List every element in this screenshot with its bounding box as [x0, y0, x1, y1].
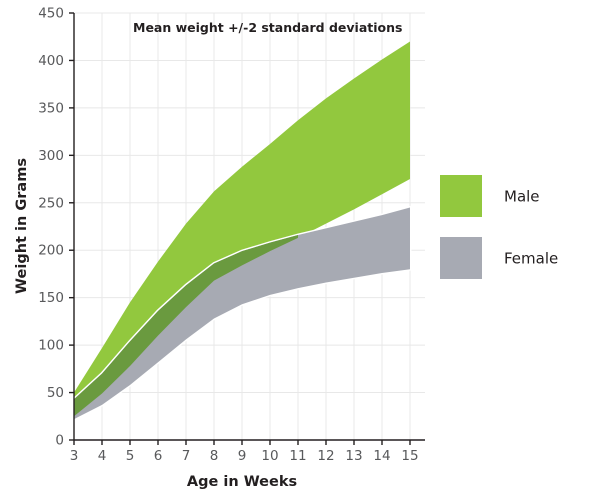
- chart-container: 0501001502002503003504004503456789101112…: [0, 0, 605, 500]
- y-tick-label: 250: [38, 195, 64, 211]
- x-tick-label: 5: [126, 448, 135, 464]
- y-tick-label: 100: [38, 338, 64, 354]
- x-tick-label: 8: [210, 448, 219, 464]
- x-tick-label: 15: [401, 448, 418, 464]
- chart-title: Mean weight +/-2 standard deviations: [133, 20, 402, 35]
- x-tick-label: 11: [289, 448, 306, 464]
- x-tick-label: 13: [345, 448, 362, 464]
- y-tick-label: 200: [38, 243, 64, 259]
- legend-swatch-male[interactable]: [440, 175, 482, 217]
- x-axis-title: Age in Weeks: [187, 474, 297, 490]
- x-tick-label: 7: [182, 448, 191, 464]
- y-tick-label: 350: [38, 100, 64, 116]
- x-tick-label: 4: [98, 448, 107, 464]
- x-tick-label: 6: [154, 448, 163, 464]
- y-tick-label: 450: [38, 6, 64, 22]
- x-tick-label: 12: [317, 448, 334, 464]
- weight-growth-area-chart: 0501001502002503003504004503456789101112…: [0, 0, 605, 500]
- y-tick-label: 400: [38, 53, 64, 69]
- x-tick-label: 3: [70, 448, 79, 464]
- x-tick-label: 14: [373, 448, 390, 464]
- y-axis-title: Weight in Grams: [14, 158, 30, 294]
- x-tick-label: 10: [261, 448, 278, 464]
- legend-label-female: Female: [504, 250, 558, 268]
- y-tick-label: 50: [47, 385, 64, 401]
- y-tick-label: 0: [55, 433, 64, 449]
- y-tick-label: 150: [38, 290, 64, 306]
- legend-label-male: Male: [504, 188, 540, 206]
- legend-swatch-female[interactable]: [440, 237, 482, 279]
- x-tick-label: 9: [238, 448, 247, 464]
- y-tick-label: 300: [38, 148, 64, 164]
